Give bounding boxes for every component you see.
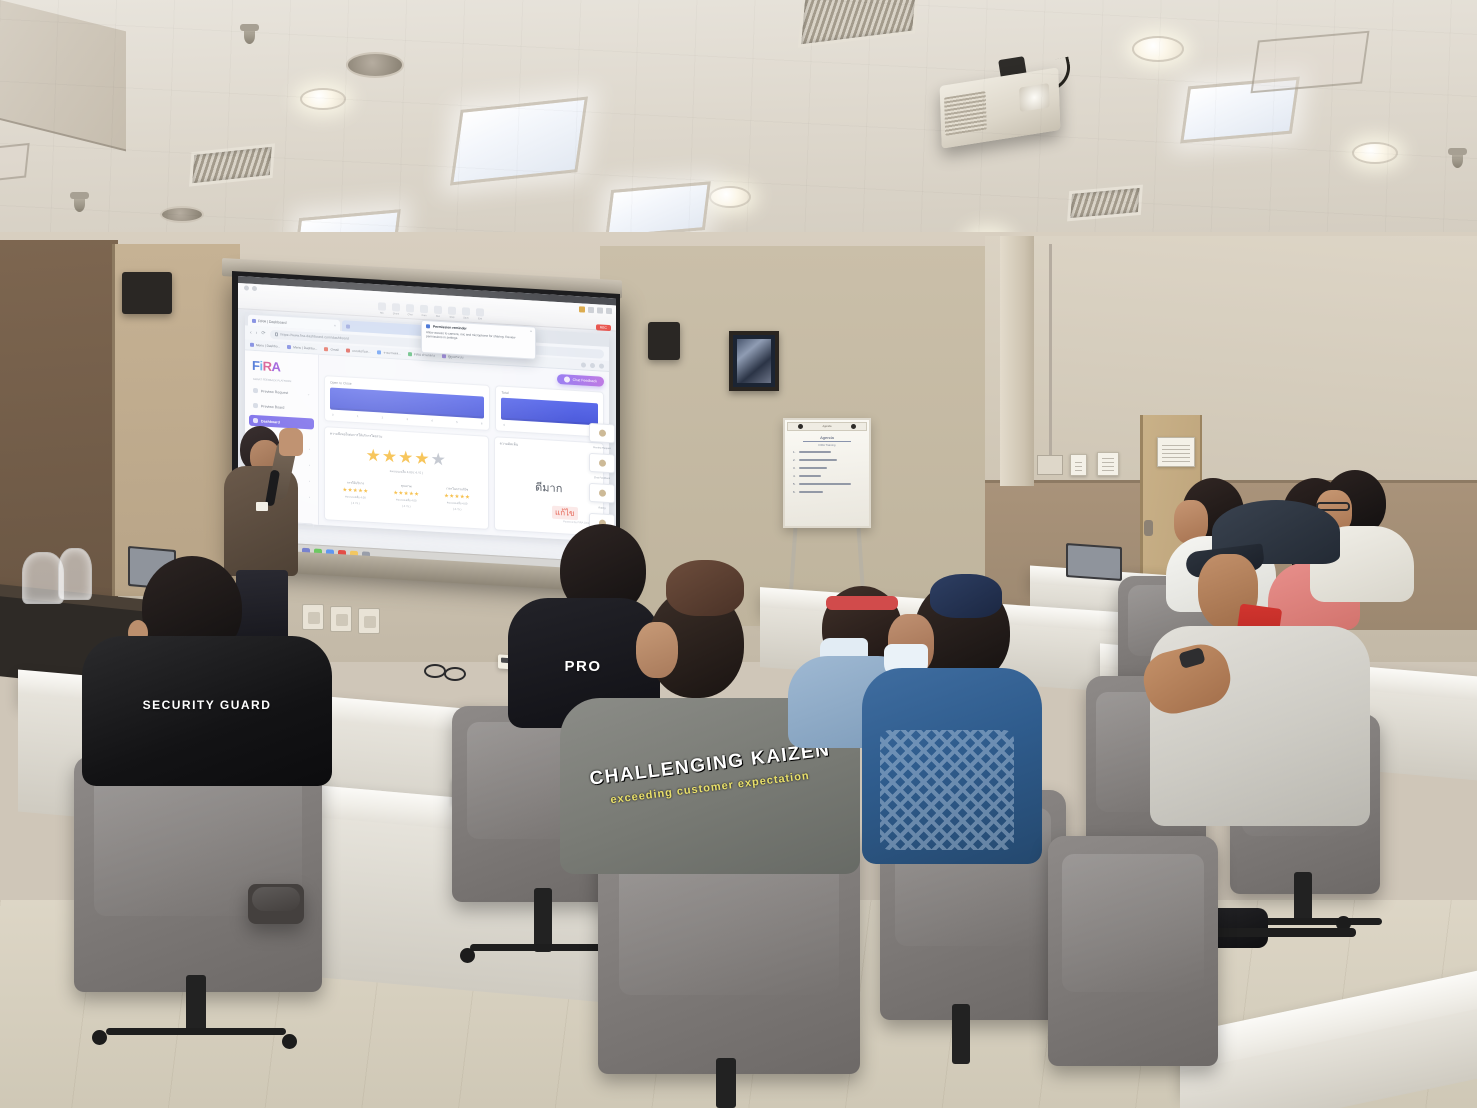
ceiling-panel-light — [1180, 77, 1300, 144]
projector-vent-grill — [944, 91, 987, 136]
far-wall-upper — [985, 236, 1477, 486]
tick-label: 4 — [431, 418, 433, 422]
bookmark-item[interactable]: แบบฟอร์มส... — [346, 348, 371, 354]
sub-rating: คุณภาพ ★★★★★ คะแนนเฉลี่ย 4.00 ( 4 / 5 ) — [393, 483, 419, 510]
chair-base — [106, 1028, 286, 1035]
sub-rating-stars: ★★★★★ — [444, 493, 470, 501]
ribbon-tool[interactable]: Chat — [406, 304, 414, 316]
chevron-right-icon: › — [309, 447, 310, 451]
fira-logo: FiRA — [249, 356, 314, 381]
star-icon-filled: ★ — [398, 447, 414, 467]
sub-rating-count: ( 4 / 5 ) — [342, 501, 368, 507]
chair-caster — [460, 948, 475, 963]
sub-rating-count: ( 4 / 5 ) — [444, 507, 470, 513]
sub-rating-value: คะแนนเฉลี่ย 4.00 — [393, 498, 419, 504]
favicon-icon — [252, 318, 256, 322]
ceiling-access-hatch — [0, 143, 30, 183]
ribbon-tool[interactable]: Rec — [434, 306, 442, 318]
app-content: Chat Feedback Open to Close 0 1 2 3 — [319, 355, 609, 542]
ribbon-tool-icon — [448, 306, 456, 314]
ribbon-tool[interactable]: Mic — [378, 302, 386, 314]
close-icon[interactable]: × — [530, 329, 532, 333]
comment-tag[interactable]: แก้ไข — [552, 506, 578, 521]
ceiling — [0, 0, 1477, 268]
ceiling-downlight — [1132, 36, 1184, 62]
power-outlet[interactable] — [358, 608, 380, 634]
ceiling-downlight — [709, 186, 751, 208]
bookmark-icon — [287, 345, 291, 349]
presenter-hand — [279, 428, 303, 456]
ceiling-panel-light — [450, 97, 588, 186]
board-icon — [253, 403, 258, 408]
bookmark-label: Gmail — [330, 347, 338, 351]
ceiling-projector — [940, 67, 1061, 148]
chevron-right-icon: › — [309, 463, 310, 467]
flipchart-subtitle: FIRA Training — [785, 443, 869, 447]
air-vent — [189, 143, 275, 186]
sidebar-item-label: Dashboard — [261, 419, 280, 424]
ribbon-tool-group[interactable]: Mic Share Chat Cam Rec Stop Save Exit — [378, 302, 484, 320]
ceiling-cable-drop — [1049, 244, 1052, 459]
item-number: 3. — [793, 466, 796, 470]
chat-feedback-button[interactable]: Chat Feedback — [557, 374, 604, 387]
sub-rating-name: คุณภาพ — [393, 483, 419, 490]
ribbon-tool-icon — [406, 304, 414, 312]
extensions-icon[interactable] — [581, 362, 586, 367]
star-icon-filled: ★ — [414, 448, 430, 468]
framed-photo — [729, 331, 779, 391]
list-icon — [253, 388, 258, 393]
air-vent — [798, 0, 920, 48]
tick-label: 1 — [357, 414, 359, 418]
ribbon-tool-label: Stop — [448, 315, 456, 318]
hair-accessory — [930, 574, 1002, 618]
bookmark-icon — [324, 347, 328, 351]
ribbon-tool[interactable]: Exit — [476, 308, 484, 320]
chair-stem — [186, 975, 206, 1035]
bookmark-icon — [346, 348, 350, 352]
notification-title: Permission reminder — [433, 325, 467, 331]
bookmark-item[interactable]: รายงานผล... — [377, 350, 400, 356]
flipchart-clip-bar: Agenda — [787, 422, 867, 431]
projector-cable — [1013, 57, 1074, 98]
sidebar-item-label: Preview Board — [261, 404, 284, 409]
ribbon-left-dots — [244, 285, 257, 291]
ribbon-status-icon — [606, 308, 612, 314]
reload-icon[interactable]: ⟳ — [261, 330, 265, 336]
ceiling-downlight — [300, 88, 346, 110]
ribbon-dot — [244, 285, 249, 290]
bar — [501, 398, 598, 426]
ribbon-tool[interactable]: Cam — [420, 305, 428, 317]
sub-rating-name: การให้บริการ — [342, 480, 368, 487]
float-panel-item[interactable] — [589, 423, 615, 444]
sub-rating-value: คะแนนเฉลี่ย 4.00 — [342, 495, 368, 501]
chair-stem — [534, 888, 552, 952]
browser-tab-title: FIRA | Dashboard — [258, 319, 287, 325]
ribbon-tool[interactable]: Stop — [448, 306, 456, 318]
bookmark-icon — [408, 352, 412, 356]
ribbon-tool-icon — [378, 302, 386, 310]
chair-stem — [952, 1004, 970, 1064]
projector-lens — [1019, 83, 1049, 112]
uniform-pattern — [880, 730, 1014, 850]
float-panel-label: Chat Feedback — [589, 476, 615, 481]
chair[interactable] — [1048, 836, 1218, 1066]
panel-icon — [599, 489, 606, 496]
rating-question: ความพึงพอใจต่อการให้บริการโดยรวม — [330, 431, 483, 445]
wall-pillar — [1000, 236, 1034, 486]
lock-icon — [275, 332, 278, 336]
chair-stem — [716, 1058, 736, 1108]
floating-side-panel: Preview Request Chat Feedback Rating — [589, 423, 615, 534]
back-icon[interactable]: ‹ — [250, 330, 252, 336]
close-icon[interactable]: × — [334, 323, 336, 327]
star-icon-filled: ★ — [382, 446, 398, 466]
bookmark-label: Menu | Dashbo... — [256, 343, 280, 348]
hair-bow — [666, 560, 744, 616]
ceiling-downlight — [1352, 142, 1398, 164]
wall-notice-sign — [1157, 437, 1195, 467]
float-panel-label: Preview Request — [589, 446, 615, 451]
ceiling-access-hatch — [1250, 31, 1369, 94]
wall-speaker — [648, 322, 680, 360]
ribbon-tool-icon — [434, 306, 442, 314]
star-icon-empty: ★ — [431, 449, 447, 469]
item-number: 5. — [793, 482, 796, 486]
ribbon-status-icon — [579, 306, 585, 312]
bookmark-item[interactable]: Gmail — [324, 347, 338, 352]
detail-row: ความพึงพอใจต่อการให้บริการโดยรวม ★★★★★ ค… — [324, 426, 604, 537]
ceiling-speaker — [160, 206, 204, 223]
sub-rating: การให้บริการ ★★★★★ คะแนนเฉลี่ย 4.00 ( 4 … — [342, 480, 368, 507]
chair-caster — [282, 1034, 297, 1049]
sidebar-item-preview-request[interactable]: Preview Request ⌄ — [249, 385, 314, 400]
logo-letter-f: F — [252, 358, 259, 373]
sidebar-item-label: Preview Request — [261, 389, 288, 395]
sub-rating-value: คะแนนเฉลี่ย 4.00 — [444, 501, 470, 507]
panel-icon — [599, 429, 606, 436]
card-rating-summary: ความพึงพอใจต่อการให้บริการโดยรวม ★★★★★ ค… — [324, 426, 489, 530]
star-icon-filled: ★ — [366, 445, 382, 465]
ribbon-tool[interactable]: Save — [462, 307, 470, 319]
person-attendee-cap — [1150, 500, 1370, 830]
chair[interactable] — [74, 756, 322, 992]
ribbon-tool-label: Save — [462, 316, 470, 319]
float-panel-label: Rating — [589, 506, 615, 511]
ribbon-tool-label: Chat — [406, 313, 414, 316]
sidebar-item-preview-board[interactable]: Preview Board — [249, 400, 314, 415]
chevron-right-icon: › — [309, 479, 310, 483]
meeting-room-photo: Meeting Recorder File View Window Help M… — [0, 0, 1477, 1108]
bookmark-label: Menu | Dashbo... — [293, 345, 317, 350]
left-wall-dark-panel — [0, 240, 118, 600]
float-panel-item[interactable] — [589, 483, 615, 504]
url-text: https://www.fira-dashboard.com/dashboard — [281, 333, 349, 341]
chevron-down-icon: ⌄ — [307, 392, 310, 396]
bar-chart — [501, 398, 598, 426]
ceiling-speaker — [346, 52, 404, 78]
handwriting-stroke — [799, 451, 831, 453]
sprinkler-head — [74, 196, 85, 212]
tick-label: 6 — [481, 421, 483, 425]
handwriting-stroke — [799, 467, 827, 469]
chair-stem — [1294, 872, 1312, 924]
air-vent — [1067, 185, 1143, 222]
projector-mount — [998, 56, 1028, 86]
logo-letter-r: R — [263, 358, 272, 374]
avatar — [564, 376, 570, 382]
tick-label: 3 — [406, 417, 408, 421]
item-number: 6. — [793, 490, 796, 494]
bookmark-icon — [377, 350, 381, 354]
sub-rating: เวลาในการแก้ไข ★★★★★ คะแนนเฉลี่ย 4.00 ( … — [444, 486, 470, 513]
presenter-badge — [256, 502, 268, 511]
clip-knob — [851, 424, 856, 429]
panel-icon — [599, 459, 606, 466]
wall-speaker — [122, 272, 172, 314]
ribbon-tool-icon — [420, 305, 428, 313]
tick-label: 0 — [332, 413, 334, 417]
bookmark-label: แบบฟอร์มส... — [352, 348, 371, 354]
profile-icon[interactable] — [590, 362, 595, 367]
ribbon-tool-icon — [462, 307, 470, 315]
wall-notice-sign — [1070, 454, 1087, 476]
laptop-on-desk[interactable] — [1066, 543, 1122, 581]
ribbon-dot — [252, 286, 257, 291]
card-title: ความคิดเห็น — [500, 442, 598, 453]
chair-base — [1198, 928, 1356, 937]
sub-rating-stars: ★★★★★ — [342, 487, 368, 495]
chair[interactable] — [248, 884, 304, 924]
handwriting-stroke — [799, 483, 851, 485]
ribbon-tool-icon — [392, 303, 400, 311]
ribbon-tool-label: Rec — [434, 315, 442, 318]
attendee-shirt-text: SECURITY GUARD — [82, 698, 332, 712]
flipchart-item: 6. — [793, 490, 861, 494]
ribbon-status-icons — [579, 306, 612, 314]
flipchart-item: 3. — [793, 466, 861, 470]
browser-action-icons — [581, 362, 604, 368]
sub-rating-count: ( 4 / 5 ) — [393, 504, 419, 510]
bookmark-item[interactable]: Menu | Dashbo... — [250, 343, 280, 349]
handwriting-stroke — [799, 459, 837, 461]
ribbon-status-icon — [597, 307, 603, 313]
favicon-icon — [346, 324, 350, 328]
item-number: 1. — [793, 450, 796, 454]
flipchart-whiteboard: Agenda Agenda FIRA Training 1. 2. 3. 4. … — [783, 418, 871, 528]
chevron-right-icon: › — [309, 495, 310, 499]
info-icon — [426, 324, 430, 328]
lens-right — [444, 667, 466, 681]
ribbon-tool-label: Share — [392, 312, 400, 315]
person-attendee-security-guard: SECURITY GUARD — [82, 556, 332, 786]
bookmark-item[interactable]: Menu | Dashbo... — [287, 345, 317, 351]
float-panel-item[interactable] — [589, 453, 615, 474]
flipchart-items: 1. 2. 3. 4. 5. 6. — [793, 450, 861, 498]
ribbon-tool-icon — [476, 308, 484, 316]
sprinkler-head — [1452, 152, 1463, 168]
flipchart-item: 1. — [793, 450, 861, 454]
person-attendee-blue-uniform — [862, 580, 1042, 860]
record-button[interactable]: REC — [596, 324, 611, 331]
chat-feedback-label: Chat Feedback — [573, 378, 597, 383]
sub-rating-stars: ★★★★★ — [393, 490, 419, 498]
item-number: 4. — [793, 474, 796, 478]
card-open-to-close: Open to Close 0 1 2 3 4 5 6 — [324, 375, 490, 431]
bookmark-label: รายงานผล... — [383, 350, 400, 356]
handwriting-stroke — [799, 491, 823, 493]
sub-rating-name: เวลาในการแก้ไข — [444, 486, 470, 493]
handwriting-stroke — [799, 475, 821, 477]
menu-icon[interactable] — [599, 363, 604, 368]
sprinkler-head — [244, 28, 255, 44]
tick-label: 0 — [503, 423, 505, 427]
flipchart-item: 2. — [793, 458, 861, 462]
logo-letter-a: A — [271, 359, 280, 375]
sub-rating-group: การให้บริการ ★★★★★ คะแนนเฉลี่ย 4.00 ( 4 … — [330, 479, 483, 513]
chair-caster — [92, 1030, 107, 1045]
bookmark-icon — [250, 343, 254, 347]
permission-notification[interactable]: × Permission reminder Allow access to ca… — [421, 320, 536, 360]
ribbon-tool-label: Cam — [420, 314, 428, 317]
ribbon-status-icon — [588, 307, 594, 313]
item-number: 2. — [793, 458, 796, 462]
forward-icon[interactable]: › — [256, 330, 258, 336]
ribbon-tool[interactable]: Share — [392, 303, 400, 315]
flipchart-title: Agenda — [803, 435, 851, 442]
wall-junction-box — [1037, 455, 1063, 475]
ribbon-tool-label: Mic — [378, 311, 386, 314]
bookmark-icon — [442, 354, 446, 358]
lens-left — [424, 664, 446, 678]
ribbon-tool-label: Exit — [476, 317, 484, 320]
ceiling-soffit — [0, 0, 126, 151]
ceiling-panel-light — [605, 181, 711, 238]
clip-knob — [798, 424, 803, 429]
dashboard-icon — [253, 418, 258, 423]
wall-notice-sign — [1097, 452, 1119, 476]
tick-label: 2 — [382, 416, 384, 420]
flipchart-item: 5. — [793, 482, 861, 486]
flipchart-clip-label: Agenda — [823, 425, 832, 428]
card-total: Total 0 1 — [495, 385, 604, 437]
tick-label: 5 — [456, 420, 458, 424]
power-outlet[interactable] — [330, 606, 352, 632]
flipchart-item: 4. — [793, 474, 861, 478]
